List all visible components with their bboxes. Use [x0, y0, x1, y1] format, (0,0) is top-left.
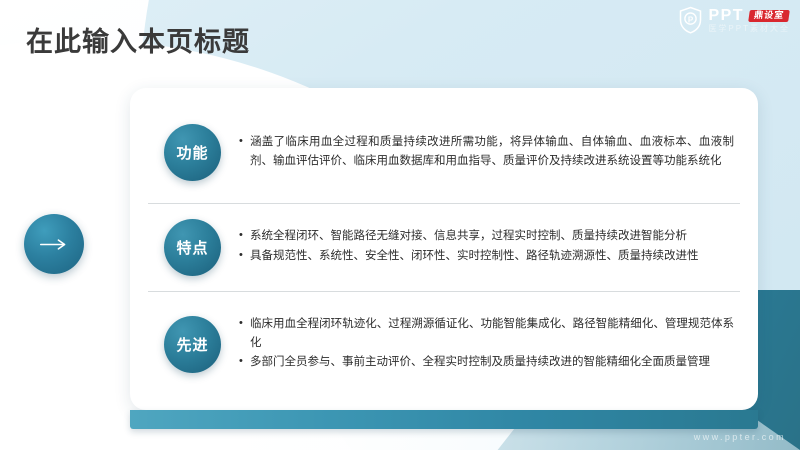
logo-brand-text: PPT	[708, 8, 744, 24]
bullet-dot-icon: •	[239, 247, 250, 265]
list-item: • 涵盖了临床用血全过程和质量持续改进所需功能，将异体输血、自体输血、血液标本、…	[239, 133, 734, 170]
svg-text:P: P	[688, 15, 694, 24]
row-badge: 先进	[164, 316, 221, 373]
content-rows: 功能 • 涵盖了临床用血全过程和质量持续改进所需功能，将异体输血、自体输血、血液…	[130, 88, 758, 410]
content-row: 先进 • 临床用血全程闭环轨迹化、过程溯源循证化、功能智能集成化、路径智能精细化…	[148, 292, 740, 396]
slide-canvas: 在此输入本页标题 P PPT 鼎设室 医学PPT素材大全	[0, 0, 800, 450]
row-badge: 功能	[164, 124, 221, 181]
list-item: • 临床用血全程闭环轨迹化、过程溯源循证化、功能智能集成化、路径智能精细化、管理…	[239, 315, 734, 352]
content-card: 功能 • 涵盖了临床用血全过程和质量持续改进所需功能，将异体输血、自体输血、血液…	[130, 88, 758, 410]
list-item-text: 临床用血全程闭环轨迹化、过程溯源循证化、功能智能集成化、路径智能精细化、管理规范…	[250, 315, 734, 352]
card-footer-accent-bar	[130, 410, 758, 429]
list-item-text: 系统全程闭环、智能路径无缝对接、信息共享，过程实时控制、质量持续改进智能分析	[250, 227, 734, 246]
row-bullet-list: • 临床用血全程闭环轨迹化、过程溯源循证化、功能智能集成化、路径智能精细化、管理…	[239, 315, 740, 373]
bullet-dot-icon: •	[239, 315, 250, 333]
list-item-text: 涵盖了临床用血全过程和质量持续改进所需功能，将异体输血、自体输血、血液标本、血液…	[250, 133, 734, 170]
logo-text-group: PPT 鼎设室 医学PPT素材大全	[708, 8, 790, 33]
list-item: • 系统全程闭环、智能路径无缝对接、信息共享，过程实时控制、质量持续改进智能分析	[239, 227, 734, 246]
page-title: 在此输入本页标题	[26, 20, 250, 59]
bullet-dot-icon: •	[239, 133, 250, 151]
list-item: • 多部门全员参与、事前主动评价、全程实时控制及质量持续改进的智能精细化全面质量…	[239, 353, 734, 372]
bullet-dot-icon: •	[239, 353, 250, 371]
arrow-right-icon	[39, 238, 69, 251]
watermark: www.ppter.com	[694, 432, 786, 442]
arrow-right-button[interactable]	[24, 214, 84, 274]
logo-tagline: 医学PPT素材大全	[708, 25, 790, 33]
shield-icon: P	[678, 6, 703, 34]
list-item: • 具备规范性、系统性、安全性、闭环性、实时控制性、路径轨迹溯源性、质量持续改进…	[239, 247, 734, 266]
list-item-text: 多部门全员参与、事前主动评价、全程实时控制及质量持续改进的智能精细化全面质量管理	[250, 353, 734, 372]
row-badge: 特点	[164, 219, 221, 276]
brand-logo: P PPT 鼎设室 医学PPT素材大全	[678, 6, 790, 34]
row-bullet-list: • 涵盖了临床用血全过程和质量持续改进所需功能，将异体输血、自体输血、血液标本、…	[239, 133, 740, 171]
logo-badge: 鼎设室	[748, 10, 790, 22]
content-row: 特点 • 系统全程闭环、智能路径无缝对接、信息共享，过程实时控制、质量持续改进智…	[148, 204, 740, 290]
list-item-text: 具备规范性、系统性、安全性、闭环性、实时控制性、路径轨迹溯源性、质量持续改进性	[250, 247, 734, 266]
logo-primary-row: PPT 鼎设室	[708, 8, 790, 24]
bullet-dot-icon: •	[239, 227, 250, 245]
content-row: 功能 • 涵盖了临床用血全过程和质量持续改进所需功能，将异体输血、自体输血、血液…	[148, 102, 740, 202]
row-bullet-list: • 系统全程闭环、智能路径无缝对接、信息共享，过程实时控制、质量持续改进智能分析…	[239, 227, 740, 266]
